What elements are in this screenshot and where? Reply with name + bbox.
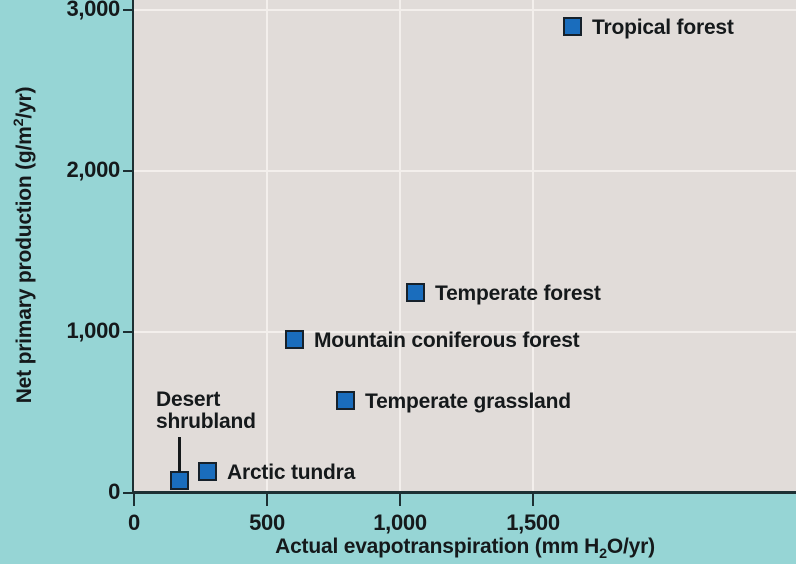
y-axis-line — [132, 0, 134, 493]
plot-area: Tropical forest Temperate forest Mountai… — [134, 0, 796, 493]
data-label-temperate-grassland: Temperate grassland — [365, 390, 571, 414]
x-tick-0 — [133, 494, 135, 506]
y-axis-title-superscript: 2 — [11, 119, 27, 127]
data-label-tropical-forest: Tropical forest — [592, 16, 734, 40]
y-tick-label-0: 0 — [28, 479, 120, 505]
x-tick-1500 — [532, 494, 534, 506]
gridline-x-1000 — [399, 0, 401, 493]
x-axis-title: Actual evapotranspiration (mm H2O/yr) — [134, 535, 796, 562]
x-tick-1000 — [399, 494, 401, 506]
gridline-y-2000 — [134, 170, 796, 172]
desert-shrubland-leader-line — [178, 437, 181, 472]
x-axis-line — [132, 491, 796, 494]
x-tick-label-0: 0 — [74, 510, 194, 536]
x-axis-title-subscript: 2 — [599, 546, 607, 562]
desert-shrubland-line-2: shrubland — [156, 411, 286, 433]
gridline-x-1500 — [532, 0, 534, 493]
x-axis-title-post: O/yr) — [607, 535, 655, 558]
y-axis-title-pre: Net primary production (g/m — [13, 126, 36, 403]
x-tick-label-1000: 1,000 — [340, 510, 460, 536]
gridline-y-3000 — [134, 9, 796, 11]
x-tick-label-500: 500 — [207, 510, 327, 536]
y-axis-title-post: /yr) — [13, 87, 36, 119]
y-axis-title: Net primary production (g/m2/yr) — [11, 15, 37, 475]
data-point-mountain-coniferous-forest[interactable] — [285, 330, 304, 349]
x-axis-title-pre: Actual evapotranspiration (mm H — [275, 535, 599, 558]
scatter-chart: Tropical forest Temperate forest Mountai… — [0, 0, 796, 564]
data-point-temperate-grassland[interactable] — [336, 391, 355, 410]
y-tick-label-3000: 3,000 — [28, 0, 120, 22]
data-label-desert-shrubland: Desert shrubland — [156, 389, 286, 432]
y-tick-label-1000: 1,000 — [28, 318, 120, 344]
y-tick-2000 — [123, 170, 134, 172]
data-point-desert-shrubland[interactable] — [170, 471, 189, 490]
x-tick-label-1500: 1,500 — [473, 510, 593, 536]
data-label-arctic-tundra: Arctic tundra — [227, 461, 355, 485]
data-point-arctic-tundra[interactable] — [198, 462, 217, 481]
y-tick-1000 — [123, 331, 134, 333]
desert-shrubland-line-1: Desert — [156, 389, 286, 411]
y-tick-label-2000: 2,000 — [28, 157, 120, 183]
data-label-mountain-coniferous-forest: Mountain coniferous forest — [314, 329, 579, 353]
data-point-temperate-forest[interactable] — [406, 283, 425, 302]
data-point-tropical-forest[interactable] — [563, 17, 582, 36]
data-label-temperate-forest: Temperate forest — [435, 282, 601, 306]
x-tick-500 — [266, 494, 268, 506]
y-tick-3000 — [123, 9, 134, 11]
